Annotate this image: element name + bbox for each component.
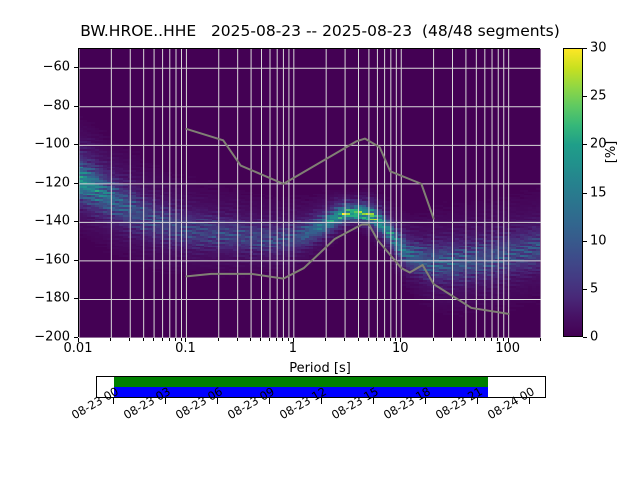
x-tick-label: 0.1 [175, 341, 196, 356]
plot-title: BW.HROE..HHE 2025-08-23 -- 2025-08-23 (4… [0, 22, 640, 40]
noise-model-curves [79, 49, 541, 338]
tick-mark [218, 338, 219, 341]
colorbar-tick-mark [583, 289, 587, 290]
colorbar-tick-mark [583, 337, 587, 338]
y-tick-label: −100 [0, 137, 70, 152]
tick-mark [451, 338, 452, 341]
tick-mark [153, 338, 154, 341]
y-tick-label: −140 [0, 214, 70, 229]
data-coverage-green [114, 377, 488, 387]
colorbar-tick-mark [583, 48, 587, 49]
tick-mark [74, 260, 78, 261]
tick-mark [475, 338, 476, 341]
tick-mark [508, 338, 509, 342]
y-tick-label: −160 [0, 252, 70, 267]
y-tick-label: −80 [0, 98, 70, 113]
colorbar-tick-mark [583, 193, 587, 194]
x-axis-label: Period [s] [0, 361, 640, 376]
y-tick-label: −120 [0, 175, 70, 190]
tick-mark [484, 338, 485, 341]
x-tick-label: 1 [289, 341, 297, 356]
tick-mark [260, 338, 261, 341]
y-tick-label: −200 [0, 330, 70, 345]
tick-mark [74, 106, 78, 107]
tick-mark [74, 221, 78, 222]
tick-mark [376, 338, 377, 341]
tick-mark [74, 298, 78, 299]
tick-mark [250, 338, 251, 341]
tick-mark [540, 338, 541, 341]
tick-mark [74, 67, 78, 68]
tick-mark [503, 338, 504, 341]
tick-mark [185, 338, 186, 342]
ppsd-axes[interactable] [78, 48, 540, 337]
tick-mark [269, 338, 270, 341]
colorbar-tick-label: 10 [590, 233, 607, 248]
tick-mark [368, 338, 369, 341]
tick-mark [74, 144, 78, 145]
x-tick-label: 100 [495, 341, 520, 356]
x-tick-label: 10 [392, 341, 409, 356]
tick-mark [293, 338, 294, 342]
y-tick-label: −60 [0, 60, 70, 75]
ppsd-figure: BW.HROE..HHE 2025-08-23 -- 2025-08-23 (4… [0, 0, 640, 480]
colorbar-tick-label: 0 [590, 330, 598, 345]
tick-mark [491, 338, 492, 341]
colorbar [563, 48, 583, 337]
colorbar-tick-label: 5 [590, 281, 598, 296]
colorbar-label: [%] [604, 102, 619, 202]
tick-mark [325, 338, 326, 341]
tick-mark [358, 338, 359, 341]
colorbar-tick-mark [583, 241, 587, 242]
colorbar-tick-mark [583, 144, 587, 145]
tick-mark [129, 338, 130, 341]
tick-mark [175, 338, 176, 341]
tick-mark [74, 183, 78, 184]
tick-mark [282, 338, 283, 341]
tick-mark [390, 338, 391, 341]
tick-mark [143, 338, 144, 341]
y-tick-label: −180 [0, 291, 70, 306]
x-tick-label: 0.01 [64, 341, 93, 356]
tick-mark [344, 338, 345, 341]
tick-mark [162, 338, 163, 341]
colorbar-tick-mark [583, 96, 587, 97]
tick-mark [433, 338, 434, 341]
tick-mark [276, 338, 277, 341]
tick-mark [465, 338, 466, 341]
tick-mark [181, 338, 182, 341]
colorbar-tick-label: 30 [590, 41, 607, 56]
tick-mark [384, 338, 385, 341]
tick-mark [395, 338, 396, 341]
tick-mark [78, 338, 79, 342]
tick-mark [497, 338, 498, 341]
tick-mark [237, 338, 238, 341]
tick-mark [169, 338, 170, 341]
tick-mark [288, 338, 289, 341]
tick-mark [110, 338, 111, 341]
tick-mark [400, 338, 401, 342]
